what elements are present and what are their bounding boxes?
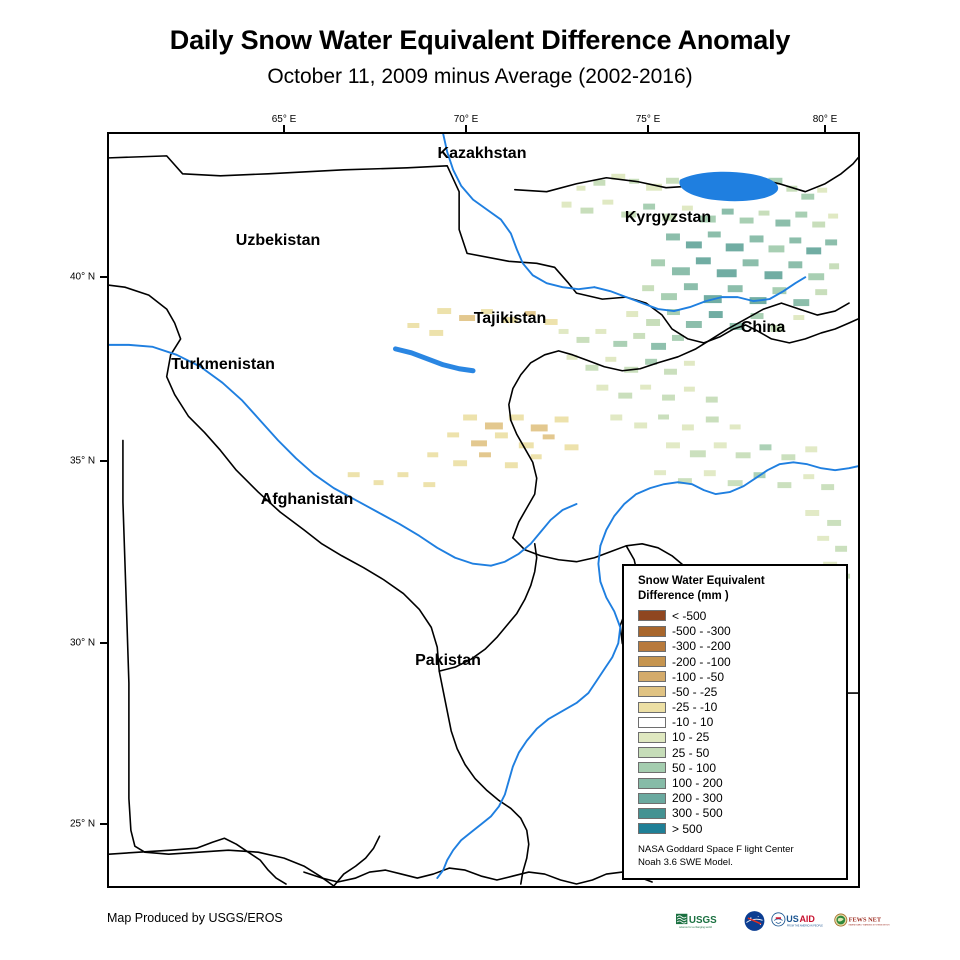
legend-swatch — [638, 686, 666, 697]
legend-label: 100 - 200 — [672, 777, 723, 789]
logo-bar: USGS science for a changing world US AID… — [676, 908, 890, 934]
lat-tick-40 — [100, 276, 108, 278]
lon-tick-65 — [283, 125, 285, 132]
legend-row: -200 - -100 — [638, 654, 836, 669]
legend-swatch — [638, 762, 666, 773]
legend-label: 50 - 100 — [672, 762, 716, 774]
legend-swatch — [638, 610, 666, 621]
legend-row: -10 - 10 — [638, 715, 836, 730]
legend-row: > 500 — [638, 821, 836, 836]
svg-text:FAMINE EARLY WARNING SYSTEMS N: FAMINE EARLY WARNING SYSTEMS NETWORK — [849, 923, 890, 926]
page-title: Daily Snow Water Equivalent Difference A… — [0, 26, 960, 56]
legend-swatch — [638, 626, 666, 637]
title-block: Daily Snow Water Equivalent Difference A… — [0, 26, 960, 88]
legend-row: -25 - -10 — [638, 699, 836, 714]
legend-swatch — [638, 793, 666, 804]
legend-swatch — [638, 808, 666, 819]
usgs-logo[interactable]: USGS science for a changing world — [676, 910, 738, 932]
lon-label-80: 80° E — [813, 114, 838, 125]
legend-row: 50 - 100 — [638, 760, 836, 775]
footer-credit: Map Produced by USGS/EROS — [107, 911, 283, 925]
lat-tick-25 — [100, 823, 108, 825]
legend-label: 200 - 300 — [672, 792, 723, 804]
legend-label: 25 - 50 — [672, 747, 709, 759]
legend-row: -500 - -300 — [638, 624, 836, 639]
lon-tick-80 — [824, 125, 826, 132]
map-legend[interactable]: Snow Water Equivalent Difference (mm ) <… — [622, 564, 848, 880]
legend-swatch — [638, 747, 666, 758]
legend-label: -50 - -25 — [672, 686, 717, 698]
lat-label-30: 30° N — [70, 638, 95, 649]
legend-source-note: NASA Goddard Space F light Center Noah 3… — [638, 844, 836, 870]
swe-anomaly-raster — [348, 174, 850, 596]
legend-row: -50 - -25 — [638, 684, 836, 699]
page-subtitle: October 11, 2009 minus Average (2002-201… — [0, 65, 960, 88]
legend-label: 300 - 500 — [672, 807, 723, 819]
legend-swatch — [638, 671, 666, 682]
map-frame[interactable]: Kazakhstan Uzbekistan Kyrgyzstan Tajikis… — [107, 132, 860, 888]
lat-label-35: 35° N — [70, 456, 95, 467]
legend-row: 100 - 200 — [638, 775, 836, 790]
svg-text:US: US — [786, 914, 798, 924]
legend-row: -100 - -50 — [638, 669, 836, 684]
legend-label: > 500 — [672, 823, 702, 835]
legend-swatch — [638, 717, 666, 728]
legend-swatch — [638, 732, 666, 743]
legend-row: 300 - 500 — [638, 806, 836, 821]
lat-tick-30 — [100, 642, 108, 644]
nasa-logo[interactable] — [743, 910, 766, 932]
legend-swatch — [638, 778, 666, 789]
lat-label-40: 40° N — [70, 272, 95, 283]
legend-row: -300 - -200 — [638, 639, 836, 654]
lat-label-25: 25° N — [70, 819, 95, 830]
svg-text:FROM THE AMERICAN PEOPLE: FROM THE AMERICAN PEOPLE — [787, 924, 823, 927]
legend-label: -25 - -10 — [672, 701, 717, 713]
fewsnet-logo[interactable]: FEWS NET FAMINE EARLY WARNING SYSTEMS NE… — [834, 910, 890, 932]
legend-swatch — [638, 656, 666, 667]
lon-tick-75 — [647, 125, 649, 132]
legend-label: < -500 — [672, 610, 706, 622]
lon-label-70: 70° E — [454, 114, 479, 125]
legend-row: 25 - 50 — [638, 745, 836, 760]
legend-row: < -500 — [638, 608, 836, 623]
usaid-logo[interactable]: US AID FROM THE AMERICAN PEOPLE — [771, 910, 829, 932]
legend-label: -200 - -100 — [672, 656, 731, 668]
legend-title: Snow Water Equivalent Difference (mm ) — [638, 574, 836, 604]
legend-swatch — [638, 702, 666, 713]
lon-label-75: 75° E — [636, 114, 661, 125]
legend-class-list: < -500-500 - -300-300 - -200-200 - -100-… — [638, 608, 836, 836]
legend-row: 10 - 25 — [638, 730, 836, 745]
legend-label: 10 - 25 — [672, 731, 709, 743]
legend-row: 200 - 300 — [638, 791, 836, 806]
lon-tick-70 — [465, 125, 467, 132]
legend-swatch — [638, 823, 666, 834]
svg-text:FEWS NET: FEWS NET — [849, 916, 882, 923]
lat-tick-35 — [100, 460, 108, 462]
svg-text:AID: AID — [799, 914, 815, 924]
legend-label: -500 - -300 — [672, 625, 731, 637]
lon-label-65: 65° E — [272, 114, 297, 125]
svg-text:USGS: USGS — [689, 915, 717, 926]
legend-label: -300 - -200 — [672, 640, 731, 652]
svg-text:science for a changing world: science for a changing world — [679, 925, 712, 929]
legend-swatch — [638, 641, 666, 652]
legend-label: -10 - 10 — [672, 716, 713, 728]
legend-label: -100 - -50 — [672, 671, 724, 683]
